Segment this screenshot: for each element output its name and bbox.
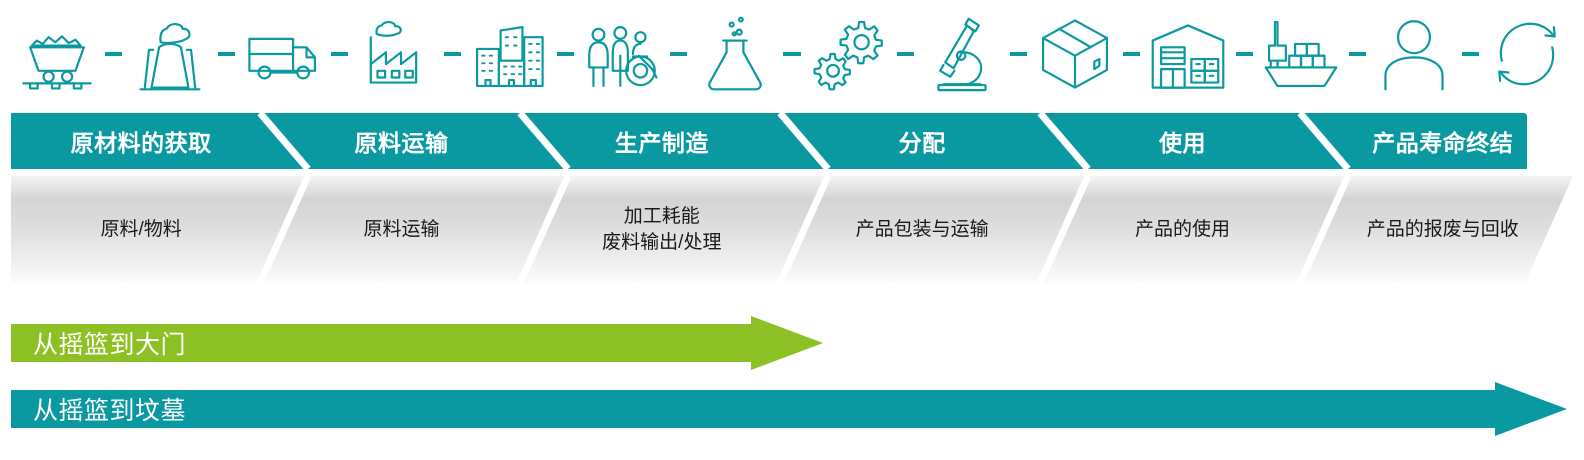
description-line: 加工耗能	[602, 204, 721, 230]
description-line: 产品的报废与回收	[1367, 217, 1519, 243]
stage-title-band: 原材料的获取 原料运输 生产制造 分配 使用 产品寿命终结	[11, 113, 1573, 169]
warehouse-icon	[1142, 10, 1234, 98]
cooling-tower-icon	[124, 10, 216, 98]
connector-dash	[670, 52, 687, 56]
people-icon	[576, 10, 668, 98]
stage-title-2: 生产制造	[532, 113, 792, 169]
truck-icon	[237, 10, 329, 98]
description-line: 产品的使用	[1135, 217, 1230, 243]
scope-label-cradle-to-gate: 从摇篮到大门	[33, 316, 186, 370]
stage-description-3: 产品包装与运输	[792, 176, 1052, 283]
description-line: 产品包装与运输	[856, 217, 989, 243]
stage-description-4: 产品的使用	[1052, 176, 1312, 283]
connector-dash	[897, 52, 914, 56]
connector-dash	[331, 52, 348, 56]
cargo-ship-icon	[1255, 10, 1347, 98]
package-box-icon	[1029, 10, 1121, 98]
stage-description-band: 原料/物料 原料运输 加工耗能 废料输出/处理 产品包装与运输 产品的使用 产品…	[11, 176, 1573, 283]
scope-label-cradle-to-grave: 从摇篮到坟墓	[33, 382, 186, 436]
connector-dash	[444, 52, 461, 56]
scope-arrow-cradle-to-gate: 从摇篮到大门	[11, 316, 823, 370]
stage-title-4: 使用	[1052, 113, 1312, 169]
connector-dash	[557, 52, 574, 56]
scope-arrow-cradle-to-grave: 从摇篮到坟墓	[11, 382, 1567, 436]
stage-description-0: 原料/物料	[11, 176, 271, 283]
microscope-icon	[916, 10, 1008, 98]
stage-title-3: 分配	[792, 113, 1052, 169]
description-line: 原料/物料	[101, 217, 182, 243]
connector-dash	[1349, 52, 1366, 56]
connector-dash	[1462, 52, 1479, 56]
person-icon	[1368, 10, 1460, 98]
stage-description-2: 加工耗能 废料输出/处理	[532, 176, 792, 283]
connector-dash	[1123, 52, 1140, 56]
stage-description-1: 原料运输	[271, 176, 531, 283]
stage-title-0: 原材料的获取	[11, 113, 271, 169]
connector-dash	[218, 52, 235, 56]
connector-dash	[105, 52, 122, 56]
stage-title-5: 产品寿命终结	[1313, 113, 1573, 169]
flask-icon	[689, 10, 781, 98]
gears-icon	[803, 10, 895, 98]
recycle-loop-icon	[1481, 10, 1573, 98]
description-line: 废料输出/处理	[602, 230, 721, 256]
connector-dash	[783, 52, 800, 56]
stage-description-5: 产品的报废与回收	[1313, 176, 1573, 283]
icon-row	[11, 0, 1573, 108]
mining-cart-icon	[11, 10, 103, 98]
stage-title-1: 原料运输	[271, 113, 531, 169]
connector-dash	[1010, 52, 1027, 56]
connector-dash	[1236, 52, 1253, 56]
factory-icon	[350, 10, 442, 98]
description-line: 原料运输	[363, 217, 439, 243]
buildings-icon	[463, 10, 555, 98]
lifecycle-diagram: 原材料的获取 原料运输 生产制造 分配 使用 产品寿命终结	[0, 0, 1584, 460]
